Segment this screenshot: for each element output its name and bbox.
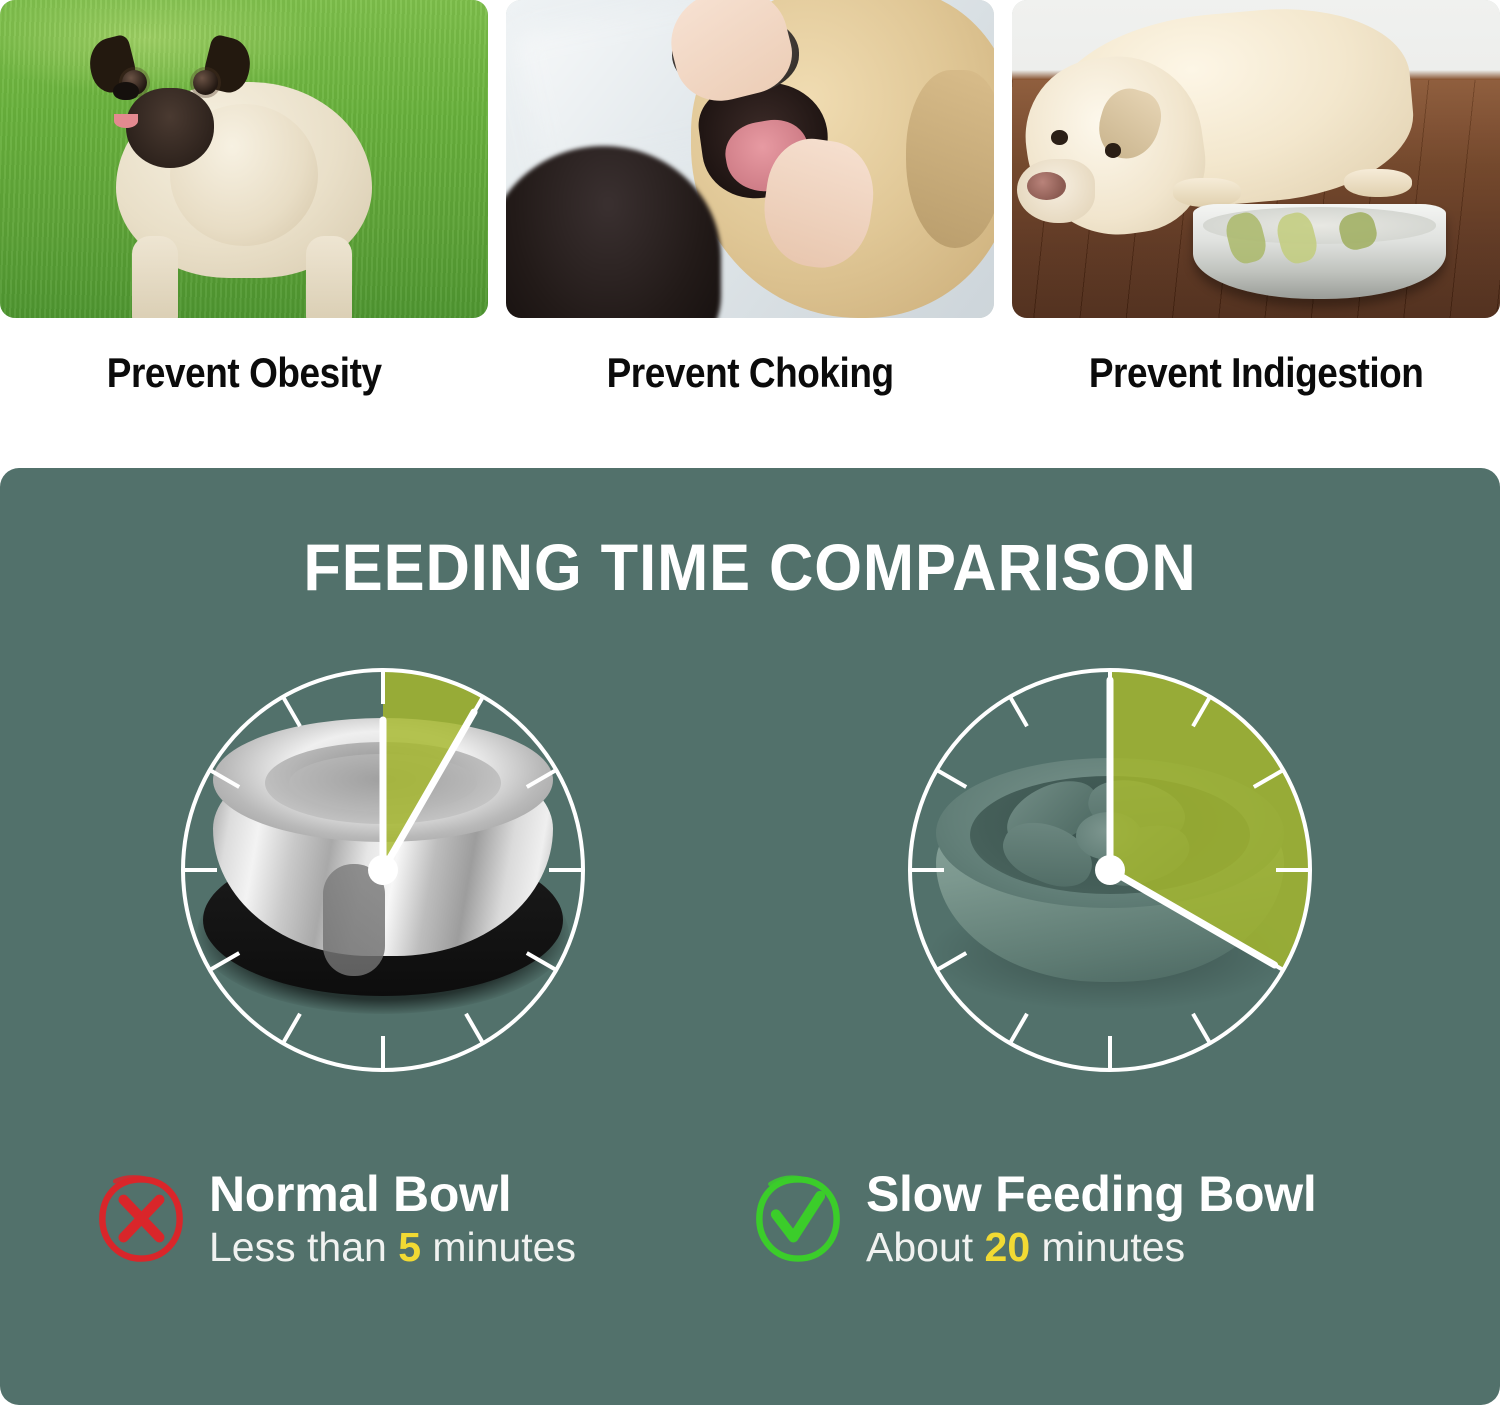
- normal-bowl-dial: [173, 658, 593, 1118]
- pug-leg: [132, 236, 178, 318]
- comparison-results-row: Normal Bowl Less than 5 minutes Slow Fee…: [0, 1168, 1500, 1348]
- benefit-card-indigestion: Prevent Indigestion: [1012, 0, 1500, 394]
- result-title-normal-bowl: Normal Bowl: [209, 1168, 576, 1221]
- steel-bowl-with-food: [1193, 204, 1447, 299]
- pug-tongue: [114, 114, 138, 128]
- benefits-row: Prevent Obesity Prevent Choking: [0, 0, 1500, 468]
- dial-comparison-row: [0, 658, 1500, 1138]
- labrador-eye: [1051, 130, 1068, 145]
- pug-eye: [193, 70, 218, 95]
- labrador-eye: [1105, 143, 1122, 158]
- benefit-label-indigestion: Prevent Indigestion: [1089, 352, 1424, 394]
- feeding-time-comparison-panel: FEEDING TIME COMPARISON: [0, 468, 1500, 1405]
- subtitle-value: 20: [985, 1224, 1031, 1270]
- kibble-piece: [1336, 209, 1379, 253]
- result-slow-feeding-bowl: Slow Feeding Bowl About 20 minutes: [752, 1168, 1316, 1271]
- result-text-group: Normal Bowl Less than 5 minutes: [209, 1168, 576, 1271]
- subtitle-prefix: About: [866, 1224, 985, 1270]
- pug-leg: [306, 236, 352, 318]
- pug-head: [170, 104, 318, 246]
- result-subtitle-normal-bowl: Less than 5 minutes: [209, 1225, 576, 1271]
- clock-hub: [368, 855, 398, 885]
- subtitle-suffix: minutes: [1030, 1224, 1185, 1270]
- subtitle-suffix: minutes: [421, 1224, 576, 1270]
- labrador-paw: [1344, 169, 1412, 198]
- result-title-slow-feeding-bowl: Slow Feeding Bowl: [866, 1168, 1316, 1221]
- subtitle-prefix: Less than: [209, 1224, 398, 1270]
- red-circle-x-icon: [95, 1173, 187, 1265]
- subtitle-value: 5: [398, 1224, 421, 1270]
- result-subtitle-slow-feeding-bowl: About 20 minutes: [866, 1225, 1316, 1271]
- person-checking-dog-mouth-photo: [506, 0, 994, 318]
- pug-muzzle: [126, 88, 214, 168]
- clock-hub: [1095, 855, 1125, 885]
- slow-feeding-bowl-clock-graphic: [900, 658, 1320, 1118]
- benefit-card-choking: Prevent Choking: [506, 0, 994, 394]
- golden-retriever-ear: [906, 70, 994, 248]
- benefit-label-choking: Prevent Choking: [606, 352, 893, 394]
- benefit-card-obesity: Prevent Obesity: [0, 0, 488, 394]
- kibble-piece: [1273, 210, 1319, 267]
- pug-nose: [113, 82, 139, 100]
- overweight-pug-on-grass-photo: [0, 0, 488, 318]
- labrador-nose: [1027, 172, 1066, 201]
- normal-bowl-clock-graphic: [173, 658, 593, 1118]
- labrador-lying-by-bowl-photo: [1012, 0, 1500, 318]
- slow-feeding-bowl-dial: [900, 658, 1320, 1118]
- kibble-piece: [1223, 210, 1269, 267]
- green-circle-check-icon: [752, 1173, 844, 1265]
- result-normal-bowl: Normal Bowl Less than 5 minutes: [95, 1168, 576, 1271]
- benefit-label-obesity: Prevent Obesity: [107, 352, 382, 394]
- page-title: FEEDING TIME COMPARISON: [53, 534, 1448, 600]
- result-text-group: Slow Feeding Bowl About 20 minutes: [866, 1168, 1316, 1271]
- labrador-paw: [1173, 178, 1241, 207]
